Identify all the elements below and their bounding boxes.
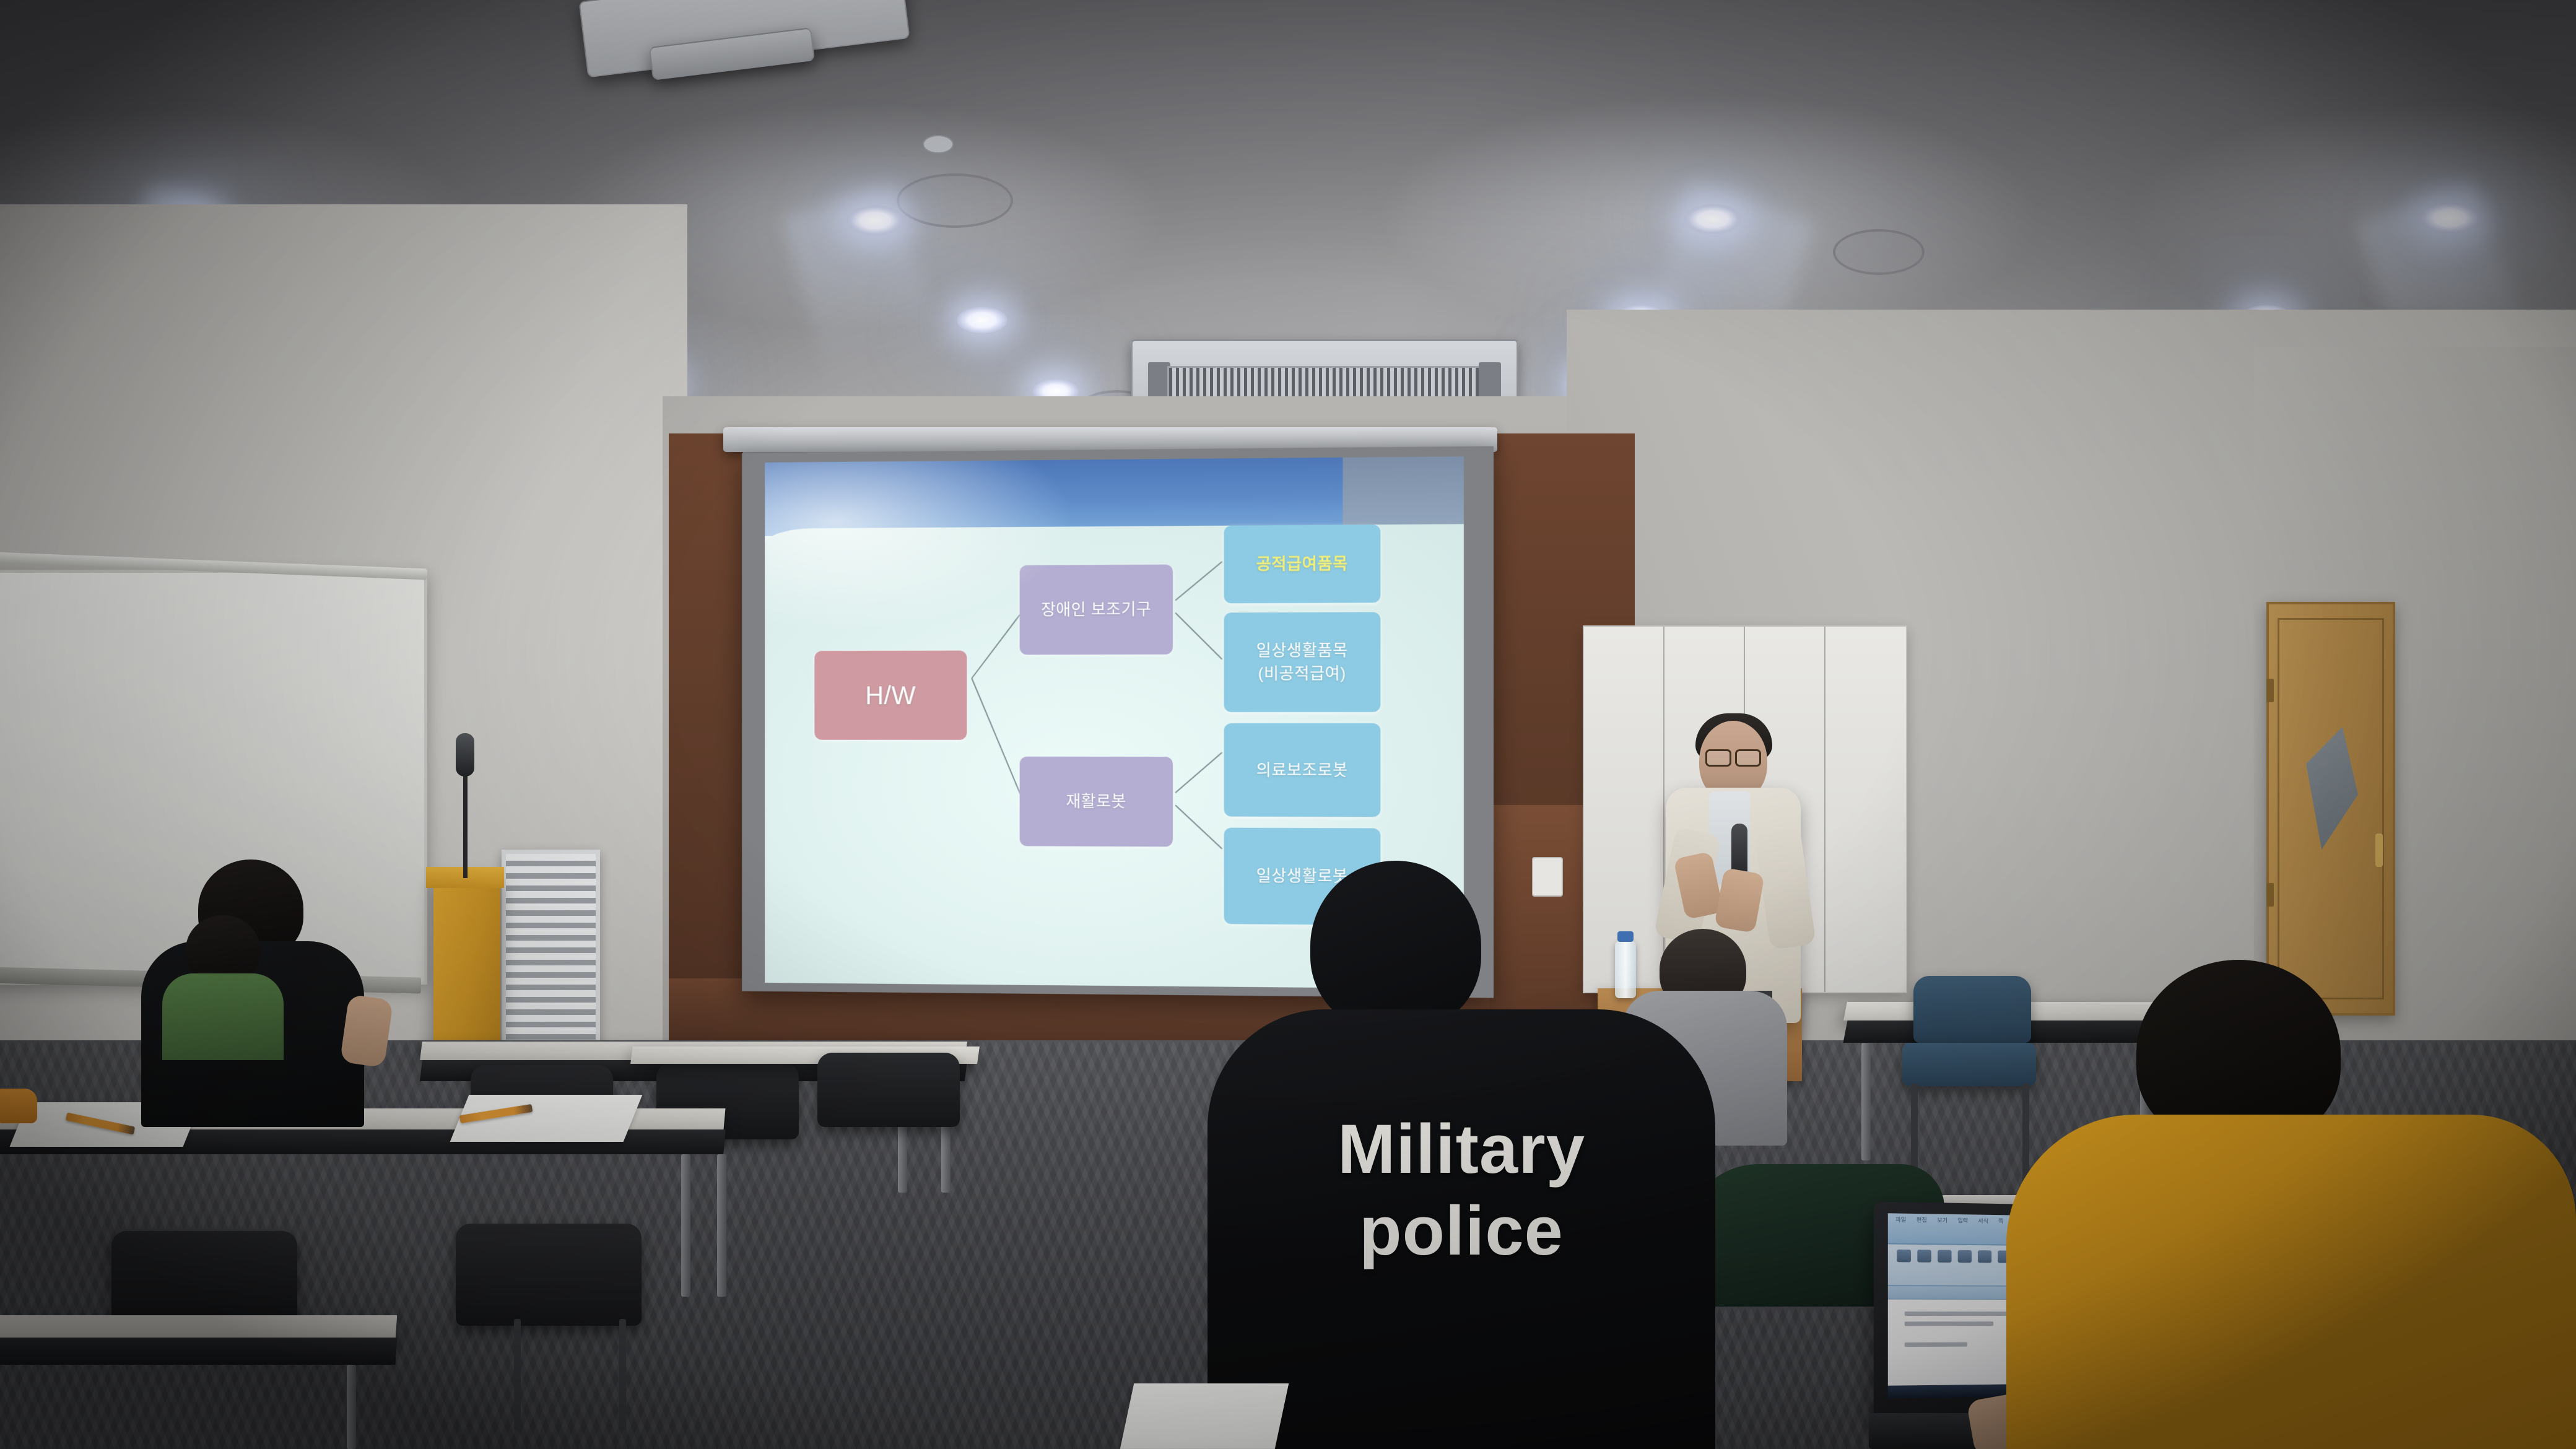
- front-left-table: [0, 1315, 397, 1338]
- lecture-room-scene: H/W 장애인 보조기구 재활로봇 공적급여품목 일상생활품목 (비공적급여) …: [0, 0, 2576, 1449]
- door-hinge: [2266, 679, 2274, 702]
- ceiling-diffuser-ring: [1833, 229, 1925, 275]
- light-switch-plate[interactable]: [1532, 857, 1563, 897]
- chair-leg: [2022, 1084, 2029, 1183]
- chair-right-row[interactable]: [817, 1053, 960, 1127]
- ceiling-downlight: [2421, 203, 2478, 233]
- diagram-leaf-medical-assist-robot: 의료보조로봇: [1224, 723, 1380, 817]
- ceiling-downlight: [847, 206, 903, 235]
- laptop-tab[interactable]: 편집: [1917, 1216, 1927, 1224]
- jacket-text-line1: Military: [1207, 1108, 1715, 1190]
- table-edge: [0, 1338, 398, 1365]
- wood-wall-panel-left: [669, 433, 743, 1053]
- jacket-text-line2: police: [1207, 1190, 1715, 1272]
- branch-top-label-line1: 장애인 보조기구: [1041, 598, 1151, 622]
- chair-leg: [619, 1319, 626, 1430]
- empty-chair-blue-seat[interactable]: [1902, 1043, 2036, 1086]
- ribbon-icon[interactable]: [1958, 1250, 1972, 1262]
- table-leg: [347, 1365, 356, 1449]
- ribbon-icon[interactable]: [1978, 1250, 1991, 1263]
- ceiling-diffuser-ring: [897, 173, 1013, 228]
- laptop-tab[interactable]: 입력: [1957, 1216, 1968, 1224]
- table-leg: [681, 1154, 690, 1297]
- document-text-line: [1905, 1342, 1968, 1347]
- diagram-node-root: H/W: [814, 651, 967, 740]
- room-door[interactable]: [2266, 602, 2395, 1016]
- water-bottle[interactable]: [1615, 941, 1636, 998]
- laptop-tab[interactable]: 파일: [1895, 1216, 1906, 1224]
- far-left-attendee-body: [162, 973, 284, 1060]
- door-handle[interactable]: [2375, 833, 2383, 867]
- chair-leg: [514, 1319, 521, 1430]
- bottle-cap: [1617, 931, 1634, 942]
- door-hinge: [2266, 883, 2274, 907]
- diagram-leaf-daily-living-items: 일상생활품목 (비공적급여): [1224, 612, 1380, 712]
- laptop-tab[interactable]: 보기: [1937, 1216, 1947, 1224]
- branch-bottom-label: 재활로봇: [1066, 790, 1126, 813]
- chair-mid-row[interactable]: [456, 1224, 642, 1326]
- ribbon-icon[interactable]: [1917, 1250, 1931, 1263]
- glasses-icon: [1705, 749, 1731, 767]
- microphone-stand: [463, 773, 468, 878]
- diagram-leaf-public-benefit-items: 공적급여품목: [1224, 524, 1380, 603]
- glasses-icon: [1735, 749, 1761, 767]
- jacket-text: Military police: [1207, 1108, 1715, 1272]
- diagram-node-branch-top: 장애인 보조기구: [1020, 564, 1173, 655]
- cabinet-panel-seam: [1824, 627, 1825, 992]
- smoke-detector: [923, 135, 954, 154]
- leaf2-line2: (비공적급여): [1258, 662, 1346, 685]
- table-leg: [717, 1154, 726, 1297]
- military-police-attendee-head: [1310, 861, 1481, 1032]
- ribbon-icon[interactable]: [1897, 1249, 1911, 1262]
- leaf2-line1: 일상생활품목: [1256, 639, 1348, 662]
- diagram-node-branch-bottom: 재활로봇: [1020, 757, 1173, 847]
- laptop-tab[interactable]: 쪽: [1998, 1217, 2003, 1225]
- slide-header-band: [765, 456, 1464, 536]
- table-leg: [1861, 1043, 1871, 1160]
- ceiling-downlight: [1684, 204, 1741, 234]
- laptop-tab[interactable]: 서식: [1978, 1217, 1988, 1225]
- lectern: [433, 874, 500, 1060]
- document-text-line: [1905, 1321, 1993, 1326]
- wall-louver-vent: [502, 850, 600, 1069]
- ceiling-downlight: [957, 307, 1007, 334]
- paper-sheet[interactable]: [1120, 1383, 1289, 1449]
- ribbon-icon[interactable]: [1938, 1250, 1951, 1262]
- orange-object-on-desk[interactable]: [0, 1089, 37, 1123]
- yellow-shirt-attendee-body: [2006, 1115, 2576, 1449]
- stand-microphone-icon: [456, 733, 474, 777]
- empty-chair-blue[interactable]: [1913, 976, 2031, 1043]
